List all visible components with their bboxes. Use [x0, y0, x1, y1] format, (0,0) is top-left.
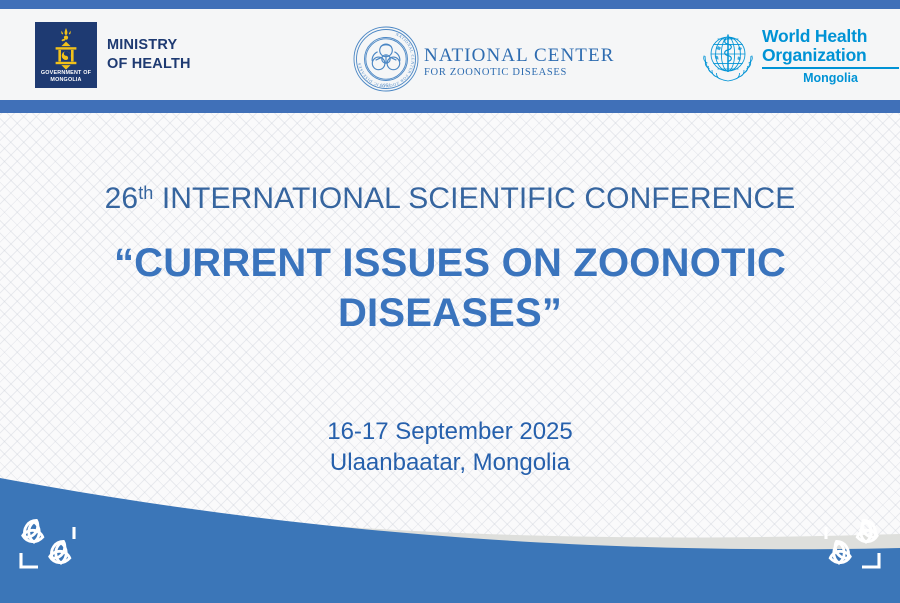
logo-header-band: GOVERNMENT OF MONGOLIA MINISTRY OF HEALT… [0, 9, 900, 100]
who-title-line2: Organization [762, 46, 899, 65]
who-logo: World Health Organization Mongolia [700, 27, 899, 90]
title-block: 26th INTERNATIONAL SCIENTIFIC CONFERENCE… [0, 175, 900, 338]
conference-label: INTERNATIONAL SCIENTIFIC CONFERENCE [153, 182, 795, 215]
conference-theme-line2: DISEASES” [70, 288, 830, 338]
bottom-wave-band [0, 468, 900, 603]
celtic-trefoil-knot-ornament-left-icon [14, 515, 100, 577]
header-divider-bar [0, 100, 900, 113]
ministry-of-health-logo: GOVERNMENT OF MONGOLIA MINISTRY OF HEALT… [35, 22, 191, 88]
biohazard-seal-icon: NATIONAL CENTER FOR ZOONOTIC DISEASES 19… [352, 25, 420, 98]
crest-caption-line1: GOVERNMENT OF [35, 70, 97, 77]
conference-number: 26 [105, 182, 139, 215]
who-divider-rule [762, 67, 899, 69]
national-center-zoonotic-diseases-logo: NATIONAL CENTER FOR ZOONOTIC DISEASES 19… [352, 25, 614, 98]
nczd-name-line2: FOR ZOONOTIC DISEASES [424, 66, 614, 79]
who-country-label: Mongolia [762, 71, 899, 85]
conference-title-slide: GOVERNMENT OF MONGOLIA MINISTRY OF HEALT… [0, 0, 900, 603]
conference-ordinal: th [138, 183, 153, 203]
ministry-of-health-name: MINISTRY OF HEALTH [107, 36, 191, 74]
conference-theme-line1: “CURRENT ISSUES ON ZOONOTIC [70, 238, 830, 288]
svg-text:1951: 1951 [381, 83, 391, 88]
conference-subtitle: 26th INTERNATIONAL SCIENTIFIC CONFERENCE [0, 175, 900, 217]
who-wordmark: World Health Organization Mongolia [762, 27, 899, 85]
ministry-name-line1: MINISTRY [107, 36, 191, 55]
celtic-trefoil-knot-ornament-right-icon [800, 515, 886, 577]
ministry-name-line2: OF HEALTH [107, 55, 191, 74]
nczd-name-line1: NATIONAL CENTER [424, 45, 614, 66]
who-emblem-icon [700, 29, 756, 90]
crest-caption-line2: MONGOLIA [35, 77, 97, 84]
event-dates: 16-17 September 2025 [0, 416, 900, 447]
conference-theme: “CURRENT ISSUES ON ZOONOTIC DISEASES” [0, 238, 900, 338]
crest-caption: GOVERNMENT OF MONGOLIA [35, 70, 97, 84]
who-title-line1: World Health [762, 27, 899, 46]
nczd-wordmark: NATIONAL CENTER FOR ZOONOTIC DISEASES [424, 45, 614, 79]
mongolia-soyombo-emblem-icon [35, 27, 97, 71]
top-accent-bar [0, 0, 900, 9]
mongolia-government-crest: GOVERNMENT OF MONGOLIA [35, 22, 97, 88]
logo-row: GOVERNMENT OF MONGOLIA MINISTRY OF HEALT… [0, 9, 900, 100]
